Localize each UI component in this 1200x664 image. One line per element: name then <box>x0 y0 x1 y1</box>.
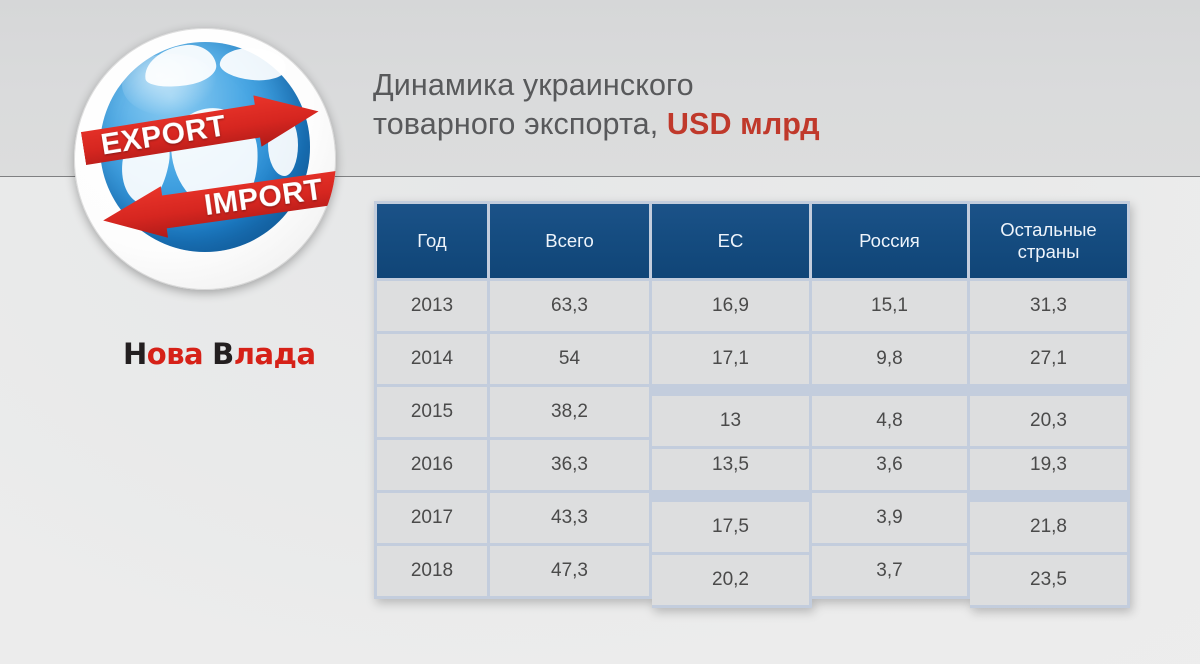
cell-other: 20,3 <box>970 396 1130 449</box>
cell-year: 2013 <box>374 281 490 334</box>
column-header-russia[interactable]: Россия <box>812 201 970 281</box>
cell-total: 36,3 <box>490 440 652 493</box>
export-dynamics-table: Год Всего ЕС Россия Остальные страны 201… <box>374 201 1130 599</box>
cell-eu: 13 <box>652 396 812 449</box>
cell-year: 2016 <box>374 440 490 493</box>
title-line-1: Динамика украинского <box>373 66 993 105</box>
cell-year: 2017 <box>374 493 490 546</box>
cell-russia: 4,8 <box>812 396 970 449</box>
cell-total: 54 <box>490 334 652 387</box>
wordmark-ova: ова <box>147 337 203 371</box>
cell-year: 2015 <box>374 387 490 440</box>
slide-canvas: EXPORT IMPORT НоваВлада Динамика украинс… <box>0 0 1200 664</box>
column-header-year[interactable]: Год <box>374 201 490 281</box>
cell-russia: 15,1 <box>812 281 970 334</box>
cell-total: 43,3 <box>490 493 652 546</box>
cell-other: 31,3 <box>970 281 1130 334</box>
cell-total: 63,3 <box>490 281 652 334</box>
table-row: 2015 38,2 13 4,8 20,3 <box>374 387 1130 440</box>
cell-russia: 9,8 <box>812 334 970 387</box>
wordmark-n: Н <box>123 337 147 371</box>
cell-eu: 16,9 <box>652 281 812 334</box>
cell-other: 21,8 <box>970 502 1130 555</box>
cell-eu: 17,1 <box>652 334 812 387</box>
cell-eu: 17,5 <box>652 502 812 555</box>
brand-wordmark: НоваВлада <box>123 337 316 371</box>
cell-total: 38,2 <box>490 387 652 440</box>
table-header-row: Год Всего ЕС Россия Остальные страны <box>374 201 1130 281</box>
cell-year: 2014 <box>374 334 490 387</box>
table-row: 2017 43,3 17,5 3,9 21,8 <box>374 493 1130 546</box>
column-header-total[interactable]: Всего <box>490 201 652 281</box>
cell-russia: 3,7 <box>812 546 970 599</box>
globe-highlight <box>122 54 218 116</box>
cell-russia: 3,9 <box>812 493 970 546</box>
title-line-2-main: товарного экспорта, <box>373 107 667 141</box>
cell-other: 23,5 <box>970 555 1130 608</box>
globe-landmass <box>219 45 288 84</box>
column-header-other[interactable]: Остальные страны <box>970 201 1130 281</box>
column-header-eu[interactable]: ЕС <box>652 201 812 281</box>
wordmark-v: В <box>212 337 234 371</box>
table-row: 2013 63,3 16,9 15,1 31,3 <box>374 281 1130 334</box>
title-unit-accent: USD млрд <box>667 107 820 141</box>
cell-other: 27,1 <box>970 334 1130 387</box>
cell-year: 2018 <box>374 546 490 599</box>
wordmark-lada: лада <box>234 337 316 371</box>
title-line-2: товарного экспорта, USD млрд <box>373 105 993 144</box>
cell-total: 47,3 <box>490 546 652 599</box>
export-import-logo: EXPORT IMPORT <box>74 28 336 290</box>
logo-disc: EXPORT IMPORT <box>74 28 336 290</box>
table-row: 2014 54 17,1 9,8 27,1 <box>374 334 1130 387</box>
cell-eu: 20,2 <box>652 555 812 608</box>
page-title: Динамика украинского товарного экспорта,… <box>373 66 993 143</box>
